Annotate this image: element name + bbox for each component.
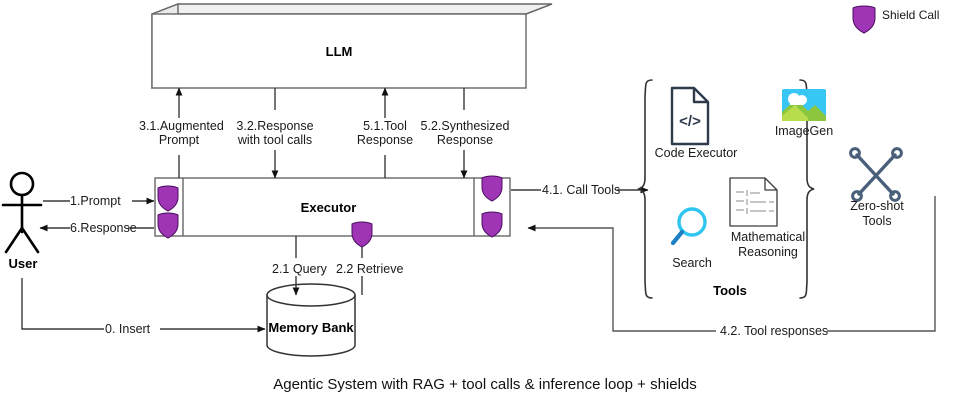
edge-label-insert: 0. Insert	[105, 322, 150, 336]
tool-label-zero-shot-tools-line1: Zero-shot	[836, 199, 918, 214]
diagram-canvas: </>	[0, 0, 970, 411]
edge-label-response: 6.Response	[70, 221, 137, 235]
edge-label-synthesized-response-line1: 5.2.Synthesized	[419, 119, 511, 133]
tool-label-imagegen: ImageGen	[764, 124, 844, 139]
diagram-caption: Agentic System with RAG + tool calls & i…	[0, 376, 970, 393]
memory-bank-label: Memory Bank	[267, 320, 355, 335]
user-figure[interactable]	[3, 173, 41, 252]
edge-label-query: 2.1 Query	[272, 262, 327, 276]
tool-label-math-reasoning-line2: Reasoning	[713, 245, 823, 260]
user-label: User	[0, 256, 46, 271]
legend-label: Shield Call	[882, 8, 939, 22]
edge-label-response-tool-calls-line2: with tool calls	[231, 133, 319, 147]
image-photo-icon[interactable]	[782, 89, 826, 121]
edge-label-response-tool-calls-line1: 3.2.Response	[231, 119, 319, 133]
tool-label-math-reasoning-line1: Mathematical	[713, 230, 823, 245]
tool-label-code-executor: Code Executor	[650, 146, 742, 161]
edge-label-augmented-prompt-line2: Prompt	[139, 133, 219, 147]
edge-label-retrieve: 2.2 Retrieve	[336, 262, 403, 276]
code-document-icon[interactable]: </>	[672, 88, 708, 144]
edge-label-prompt: 1.Prompt	[70, 194, 121, 208]
executor-label: Executor	[183, 200, 474, 215]
svg-text:</>: </>	[679, 113, 701, 130]
legend-shield-icon	[853, 6, 875, 33]
edge-label-tool-responses: 4.2. Tool responses	[720, 324, 828, 338]
magnifier-icon[interactable]	[673, 209, 705, 243]
math-document-icon[interactable]	[730, 178, 777, 226]
llm-label: LLM	[0, 44, 678, 59]
tools-group-label: Tools	[660, 283, 800, 298]
crossed-wrenches-icon[interactable]	[851, 149, 902, 201]
edge-label-tool-response-line2: Response	[345, 133, 425, 147]
tool-label-zero-shot-tools-line2: Tools	[836, 214, 918, 229]
edge-label-augmented-prompt-line1: 3.1.Augmented	[139, 119, 219, 133]
shield-retrieve	[352, 222, 372, 247]
edge-label-synthesized-response-line2: Response	[419, 133, 511, 147]
edge-label-call-tools: 4.1. Call Tools	[542, 183, 620, 197]
edge-label-tool-response-line1: 5.1.Tool	[345, 119, 425, 133]
tools-brace-left	[638, 80, 652, 298]
